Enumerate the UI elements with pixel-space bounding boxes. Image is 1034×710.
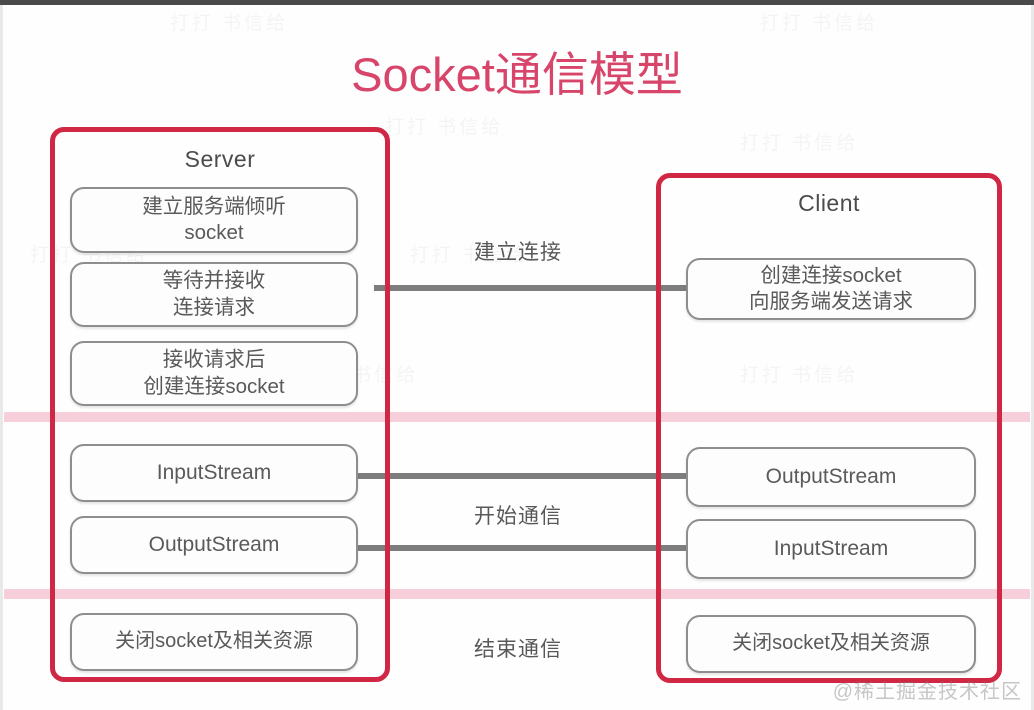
background-watermark: 打打 书信给 [385, 112, 503, 139]
stage-label-end-communication: 结束通信 [418, 633, 618, 663]
window-top-bar [0, 0, 1034, 5]
client-step-create-conn-socket[interactable]: 创建连接socket 向服务端发送请求 [686, 258, 976, 320]
diagram-canvas: 打打 书信给 打打 书信给 打打 书信给 打打 书信给 打打 书信给 打打 书信… [0, 0, 1034, 710]
step-line: 关闭socket及相关资源 [115, 629, 313, 655]
server-step-create-conn-socket[interactable]: 接收请求后 创建连接socket [70, 341, 358, 406]
step-line: InputStream [157, 460, 271, 487]
site-watermark: @稀土掘金技术社区 [833, 675, 1022, 704]
client-step-output-stream[interactable]: OutputStream [686, 447, 976, 507]
server-step-input-stream[interactable]: InputStream [70, 444, 358, 502]
step-line: 建立服务端倾听 [142, 195, 286, 218]
client-lane: Client [656, 173, 1002, 683]
stage-label-establish-connection: 建立连接 [418, 236, 618, 266]
diagram-title: Socket通信模型 [0, 36, 1034, 105]
step-line: 向服务端发送请求 [749, 290, 913, 313]
server-step-create-listen-socket[interactable]: 建立服务端倾听 socket [70, 187, 358, 253]
background-watermark: 打打 书信给 [170, 8, 288, 35]
step-line: 连接请求 [173, 296, 255, 319]
step-line: socket [184, 221, 243, 244]
background-watermark: 打打 书信给 [760, 8, 878, 35]
background-watermark: 打打 书信给 [740, 128, 858, 155]
server-step-output-stream[interactable]: OutputStream [70, 516, 358, 574]
step-line: 接收请求后 [163, 348, 266, 371]
stage-label-start-communication: 开始通信 [418, 500, 618, 530]
client-step-close-socket[interactable]: 关闭socket及相关资源 [686, 615, 976, 673]
step-line: 关闭socket及相关资源 [732, 631, 930, 657]
client-lane-title: Client [661, 190, 997, 217]
server-step-wait-accept-request[interactable]: 等待并接收 连接请求 [70, 262, 358, 327]
page-left-edge [0, 5, 3, 710]
connector-server-input-client-output [356, 473, 690, 479]
step-line: OutputStream [766, 464, 897, 491]
connector-server-output-client-input [356, 545, 690, 551]
server-step-close-socket[interactable]: 关闭socket及相关资源 [70, 613, 358, 671]
step-line: InputStream [774, 536, 888, 563]
step-line: 等待并接收 [163, 269, 266, 292]
server-lane-title: Server [55, 146, 385, 173]
step-line: 创建连接socket [143, 375, 284, 398]
client-step-input-stream[interactable]: InputStream [686, 519, 976, 579]
connector-establish-connection [374, 285, 690, 291]
step-line: 创建连接socket [760, 264, 901, 287]
step-line: OutputStream [149, 532, 280, 559]
